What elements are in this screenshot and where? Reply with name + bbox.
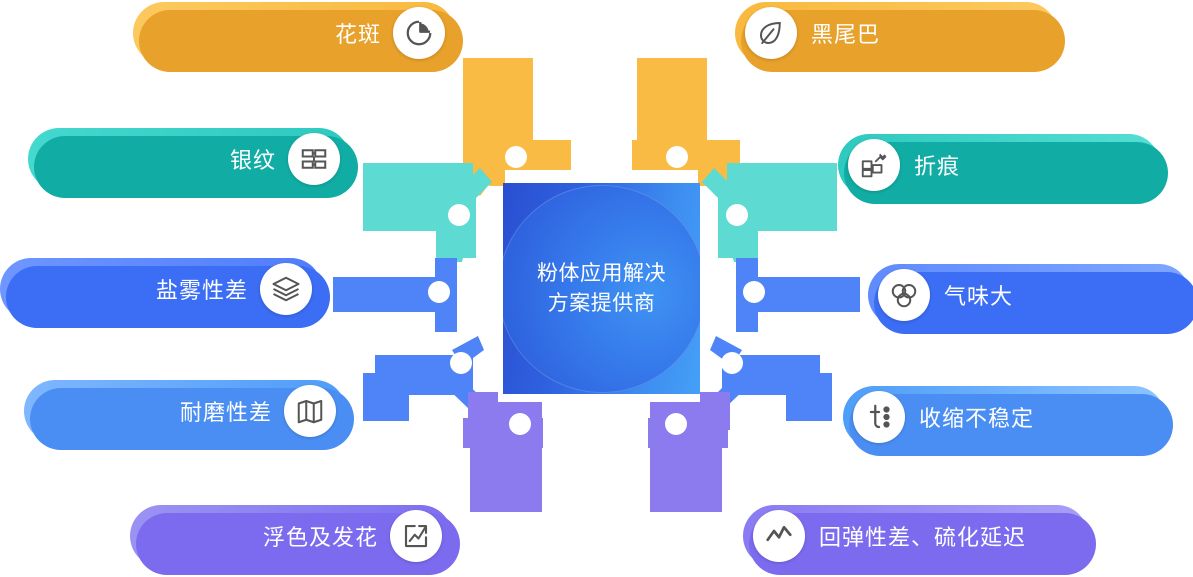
item-right-5[interactable]: 回弹性差、硫化延迟 (743, 505, 1088, 567)
item-label: 气味大 (944, 279, 1013, 311)
item-label: 浮色及发花 (263, 520, 378, 552)
item-label: 银纹 (230, 143, 276, 175)
connector-middle-left (333, 258, 457, 332)
item-left-3[interactable]: 盐雾性差 (0, 258, 322, 320)
item-label: 折痕 (914, 149, 960, 181)
item-label: 花斑 (335, 17, 381, 49)
diagram-canvas: 粉体应用解决 方案提供商 花斑 银纹 盐雾性差 (0, 0, 1193, 577)
recycle-icon (878, 269, 930, 321)
item-label: 收缩不稳定 (919, 401, 1034, 433)
puzzle-icon (848, 139, 900, 191)
item-right-1[interactable]: 黑尾巴 (735, 2, 1057, 64)
connector-lower-left (363, 336, 484, 421)
item-right-2[interactable]: 折痕 (838, 134, 1160, 196)
item-label: 回弹性差、硫化延迟 (819, 520, 1026, 552)
pie-chart-icon (393, 7, 445, 59)
connector-upper-right (702, 163, 837, 262)
item-label: 耐磨性差 (180, 395, 272, 427)
item-left-1[interactable]: 花斑 (133, 2, 455, 64)
connector-middle-right (736, 258, 860, 332)
item-left-2[interactable]: 银纹 (28, 128, 350, 190)
molecule-icon (853, 391, 905, 443)
center-title: 粉体应用解决 方案提供商 (503, 259, 700, 319)
item-left-5[interactable]: 浮色及发花 (130, 505, 452, 567)
layers-icon (260, 263, 312, 315)
item-label: 黑尾巴 (811, 17, 880, 49)
connector-bottom-left (463, 392, 543, 512)
item-left-4[interactable]: 耐磨性差 (24, 380, 346, 442)
item-label: 盐雾性差 (156, 273, 248, 305)
sitemap-icon (288, 133, 340, 185)
leaf-icon (745, 7, 797, 59)
line-chart-icon (753, 510, 805, 562)
connector-bottom-right (648, 392, 730, 512)
trend-up-icon (390, 510, 442, 562)
connector-top-right (632, 58, 741, 196)
center-node[interactable]: 粉体应用解决 方案提供商 (503, 183, 700, 394)
connector-upper-left (363, 163, 492, 262)
item-right-3[interactable]: 气味大 (868, 264, 1190, 326)
item-right-4[interactable]: 收缩不稳定 (843, 386, 1165, 448)
map-icon (284, 385, 336, 437)
